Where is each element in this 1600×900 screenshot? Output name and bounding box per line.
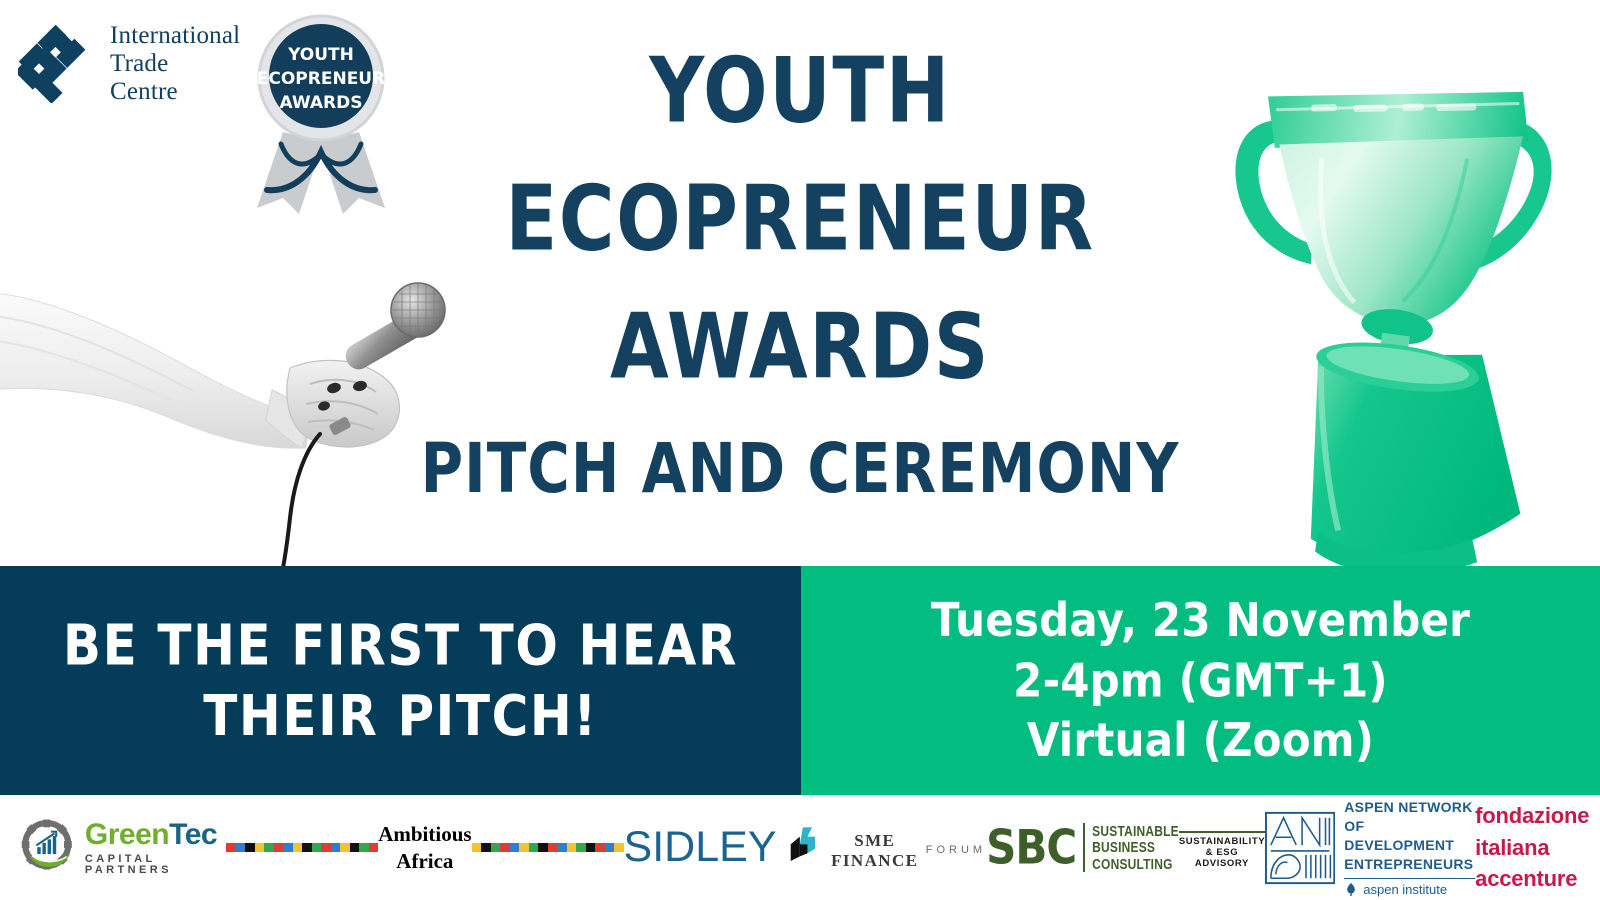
sponsor-logo-ambitious-africa: Ambitious Africa <box>226 815 623 880</box>
green-trophy-image <box>1155 18 1600 583</box>
sponsor-logo-sbc: SBC SUSTAINABLE BUSINESS CONSULTING SUST… <box>986 823 1265 872</box>
event-date: Tuesday, 23 November <box>931 590 1470 650</box>
sponsor-logo-greentec-capital-partners: GreenTec CAPITAL PARTNERS <box>20 815 226 881</box>
greentec-name-green: Green <box>85 818 169 851</box>
cta-line-2: THEIR PITCH! <box>63 681 738 751</box>
fondazione-line-1: fondazione <box>1475 800 1589 832</box>
ambitious-africa-color-strip-bottom <box>472 843 624 852</box>
greentec-tagline: CAPITAL PARTNERS <box>85 854 226 876</box>
cta-band-left: BE THE FIRST TO HEAR THEIR PITCH! <box>0 566 801 795</box>
sidley-wordmark: SIDLEY <box>624 823 777 872</box>
sbc-abbreviation: SBC <box>986 824 1076 871</box>
ambitious-africa-line-2: Africa <box>378 848 471 874</box>
ambitious-africa-line-1: Ambitious <box>378 821 471 847</box>
sponsor-logo-ande: ASPEN NETWORK OF DEVELOPMENT ENTREPRENEU… <box>1265 798 1475 897</box>
title-line-2: ECOPRENEUR <box>400 174 1200 264</box>
sbc-word-3: CONSULTING <box>1092 854 1179 873</box>
fondazione-line-2: italiana <box>1475 832 1589 864</box>
ande-line-2: OF DEVELOPMENT <box>1344 817 1475 855</box>
badge-line-3: AWARDS <box>280 93 363 113</box>
itc-word-line-1: International <box>110 22 240 50</box>
ande-line-1: ASPEN NETWORK <box>1344 798 1475 817</box>
itc-word-line-2: Trade <box>110 50 240 78</box>
rosette-icon: YOUTH ECOPRENEUR AWARDS <box>237 12 405 217</box>
event-promo-poster: International Trade Centre YOUTH ECOPREN… <box>0 0 1600 900</box>
event-location: Virtual (Zoom) <box>931 711 1470 771</box>
ande-divider <box>1344 878 1475 879</box>
sme-finance-forum-arrow-icon <box>777 819 824 877</box>
event-details-band-right: Tuesday, 23 November 2-4pm (GMT+1) Virtu… <box>801 566 1600 795</box>
sponsor-logo-sidley: SIDLEY <box>624 823 777 872</box>
itc-word-line-3: Centre <box>110 78 240 106</box>
poster-title: YOUTH ECOPRENEUR AWARDS PITCH AND CEREMO… <box>400 28 1200 492</box>
ande-monogram-icon <box>1265 811 1335 885</box>
badge-line-2: ECOPRENEUR <box>257 69 385 89</box>
badge-line-1: YOUTH <box>287 45 354 65</box>
itc-weave-mark <box>18 25 96 103</box>
sponsor-logo-fondazione-italiana-accenture: fondazione italiana accenture <box>1475 800 1589 896</box>
sbc-footer-tagline: SUSTAINABILITY & ESG ADVISORY <box>1179 831 1265 869</box>
award-badge: YOUTH ECOPRENEUR AWARDS <box>237 12 405 217</box>
aspen-institute-label: aspen institute <box>1363 882 1447 897</box>
ambitious-africa-color-strip-top <box>226 843 378 852</box>
greentec-gear-leaf-icon <box>20 815 77 881</box>
cta-line-1: BE THE FIRST TO HEAR <box>63 611 738 681</box>
sme-finance-forum-sub: FORUM <box>926 844 986 856</box>
itc-logo-wordmark: International Trade Centre <box>110 22 240 106</box>
event-time: 2-4pm (GMT+1) <box>931 650 1470 710</box>
title-line-3: AWARDS <box>400 302 1200 392</box>
ande-line-3: ENTREPRENEURS <box>1344 855 1475 874</box>
title-subtitle: PITCH AND CEREMONY <box>400 434 1200 502</box>
itc-logo: International Trade Centre <box>18 22 240 106</box>
sme-finance-forum-name: SME FINANCE <box>824 831 926 871</box>
title-line-1: YOUTH <box>400 46 1200 136</box>
sponsor-logo-sme-finance-forum: SME FINANCE FORUM <box>777 819 987 877</box>
greentec-name-blue: Tec <box>169 818 217 851</box>
fondazione-line-3: accenture <box>1475 863 1589 895</box>
aspen-leaf-icon <box>1344 882 1358 896</box>
sponsor-logo-bar: GreenTec CAPITAL PARTNERS Ambitious Afri… <box>0 795 1600 900</box>
